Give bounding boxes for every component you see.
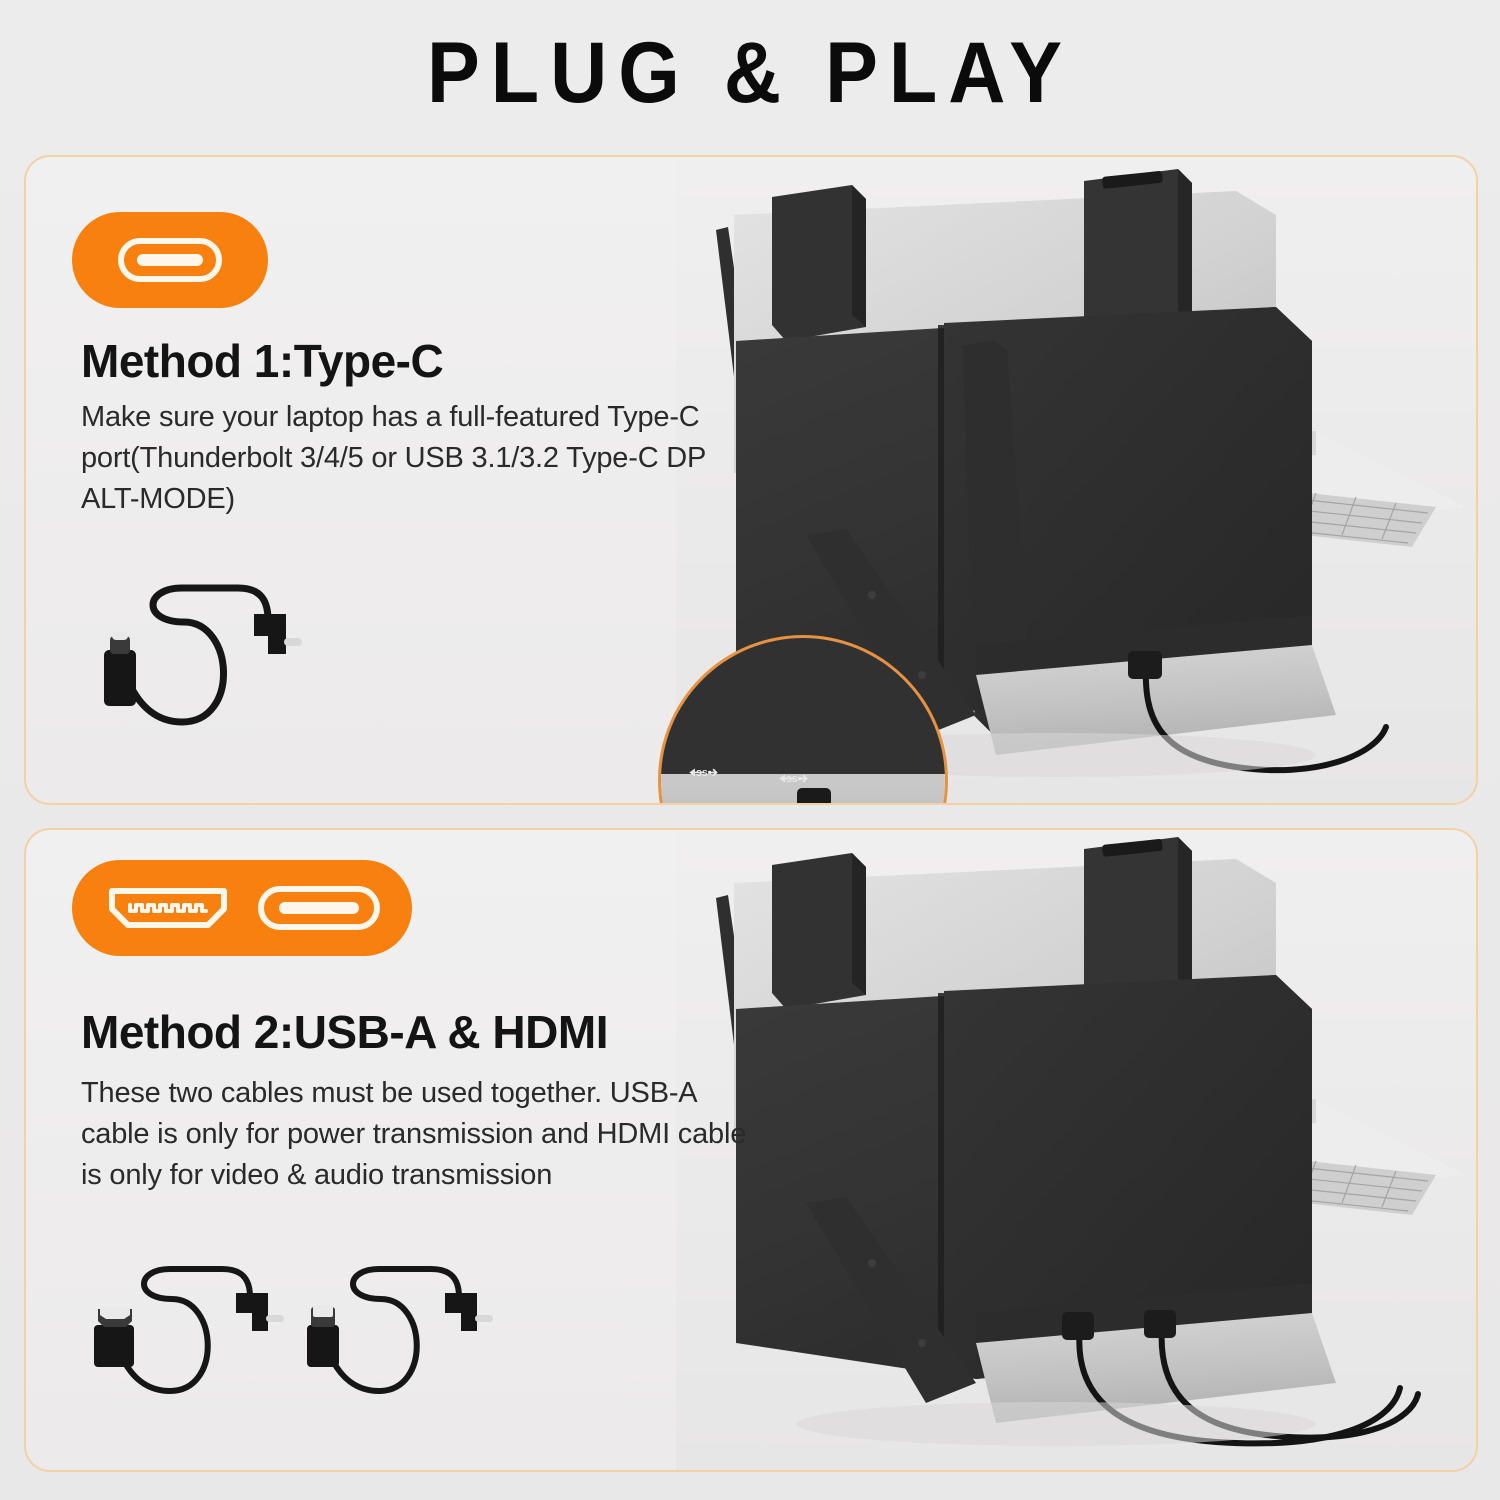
usb-a-cable-illustration (281, 1245, 511, 1420)
hdmi-port-icon (104, 883, 232, 933)
method-2-description: These two cables must be used together. … (81, 1073, 761, 1197)
type-c-cable-illustration (72, 562, 332, 762)
method-2-product-image (676, 830, 1476, 1470)
svg-text:SS: SS (786, 774, 798, 784)
method-2-heading: Method 2:USB-A & HDMI (81, 1005, 608, 1059)
hdmi-cable-illustration (72, 1245, 302, 1420)
method-1-card: Method 1:Type-C Make sure your laptop ha… (24, 155, 1478, 805)
usb-ss-icon: SS (777, 772, 811, 785)
type-c-port-icon (258, 886, 380, 930)
svg-text:SS: SS (696, 768, 708, 778)
method-2-badge (72, 860, 412, 956)
magnifier-1-port-label-ss-2: SS (777, 772, 811, 785)
magnifier-1-port-label-ss-1: SS (687, 766, 721, 779)
method-1-magnifier: SS SS (658, 635, 948, 805)
method-1-description: Make sure your laptop has a full-feature… (81, 397, 761, 521)
infographic-page: PLUG & PLAY (0, 0, 1500, 1500)
usb-ss-icon: SS (687, 766, 721, 779)
type-c-port-icon (118, 238, 222, 282)
magnifier-1-plugged-cable (731, 788, 911, 805)
method-2-card: Method 2:USB-A & HDMI These two cables m… (24, 828, 1478, 1472)
method-1-heading: Method 1:Type-C (81, 334, 443, 388)
page-title: PLUG & PLAY (60, 28, 1440, 118)
method-1-badge (72, 212, 268, 308)
